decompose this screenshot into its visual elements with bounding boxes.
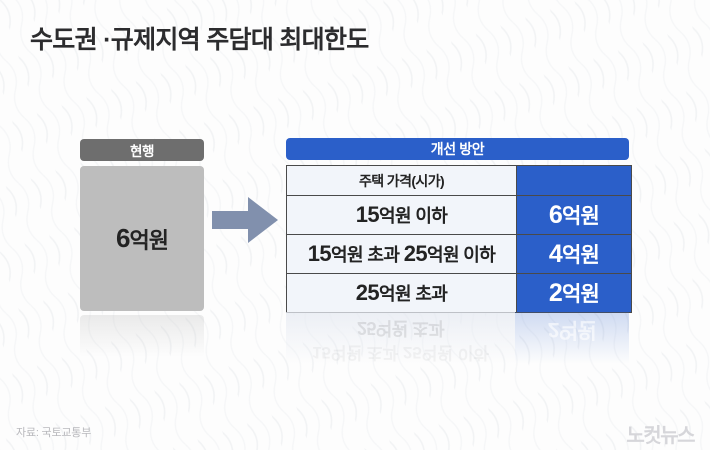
current-panel-header: 현행 [80,139,204,161]
price-number: 25 [356,280,379,305]
plan-table-reflection: 25억원 초과 2억원 15억원 초과 25억원 이하 [286,312,629,364]
limit-cell: 2억원 [517,274,632,313]
current-panel-value: 6억원 [80,166,204,311]
price-text-2: 억원 이하 [427,245,495,265]
reflection-price-text-2: 15억원 초과 25억원 이하 [286,342,515,364]
table-row: 15억원 초과 25억원 이하 4억원 [287,235,632,274]
price-range-cell: 15억원 초과 25억원 이하 [287,235,517,274]
current-panel-value-number: 6 [116,223,129,254]
limit-number: 6 [549,201,562,229]
price-text: 억원 이하 [379,206,447,226]
table-header-row: 주택 가격(시가) [287,166,632,196]
column-header-limit [517,166,632,196]
table-row: 25억원 초과 2억원 [287,274,632,313]
current-panel: 현행 6억원 [80,139,204,311]
limit-unit: 억원 [562,283,599,306]
price-number-2: 25 [404,241,427,266]
price-range-cell: 25억원 초과 [287,274,517,313]
price-number: 15 [356,202,379,227]
source-note: 자료: 국토교통부 [16,424,91,440]
plan-table: 주택 가격(시가) 15억원 이하 6억원 15억원 초과 25억원 이하 4억… [286,165,632,313]
table-row: 15억원 이하 6억원 [287,196,632,235]
plan-panel-header: 개선 방안 [286,138,629,160]
reflection-limit-text: 2억원 [515,316,629,346]
plan-panel: 개선 방안 주택 가격(시가) 15억원 이하 6억원 15억원 초과 25억원… [286,138,629,313]
limit-cell: 6억원 [517,196,632,235]
price-range-cell: 15억원 이하 [287,196,517,235]
limit-number: 2 [549,279,562,307]
nocutnews-logo: 노컷뉴스 [626,419,694,448]
price-text: 억원 초과 [379,284,447,304]
current-panel-value-unit: 억원 [129,223,167,255]
reflection-price-text: 25억원 초과 [286,316,515,342]
price-number: 15 [308,241,331,266]
current-panel-reflection [80,315,204,357]
limit-unit: 억원 [562,244,599,267]
infographic-canvas: 수도권 ·규제지역 주담대 최대한도 현행 6억원 개선 방안 주택 가격(시가… [0,0,710,450]
arrow-right-icon [212,195,278,245]
column-header-price: 주택 가격(시가) [287,166,517,196]
page-title: 수도권 ·규제지역 주담대 최대한도 [30,20,369,56]
limit-cell: 4억원 [517,235,632,274]
limit-unit: 억원 [562,205,599,228]
limit-number: 4 [549,240,562,268]
price-text: 억원 초과 [331,245,399,265]
